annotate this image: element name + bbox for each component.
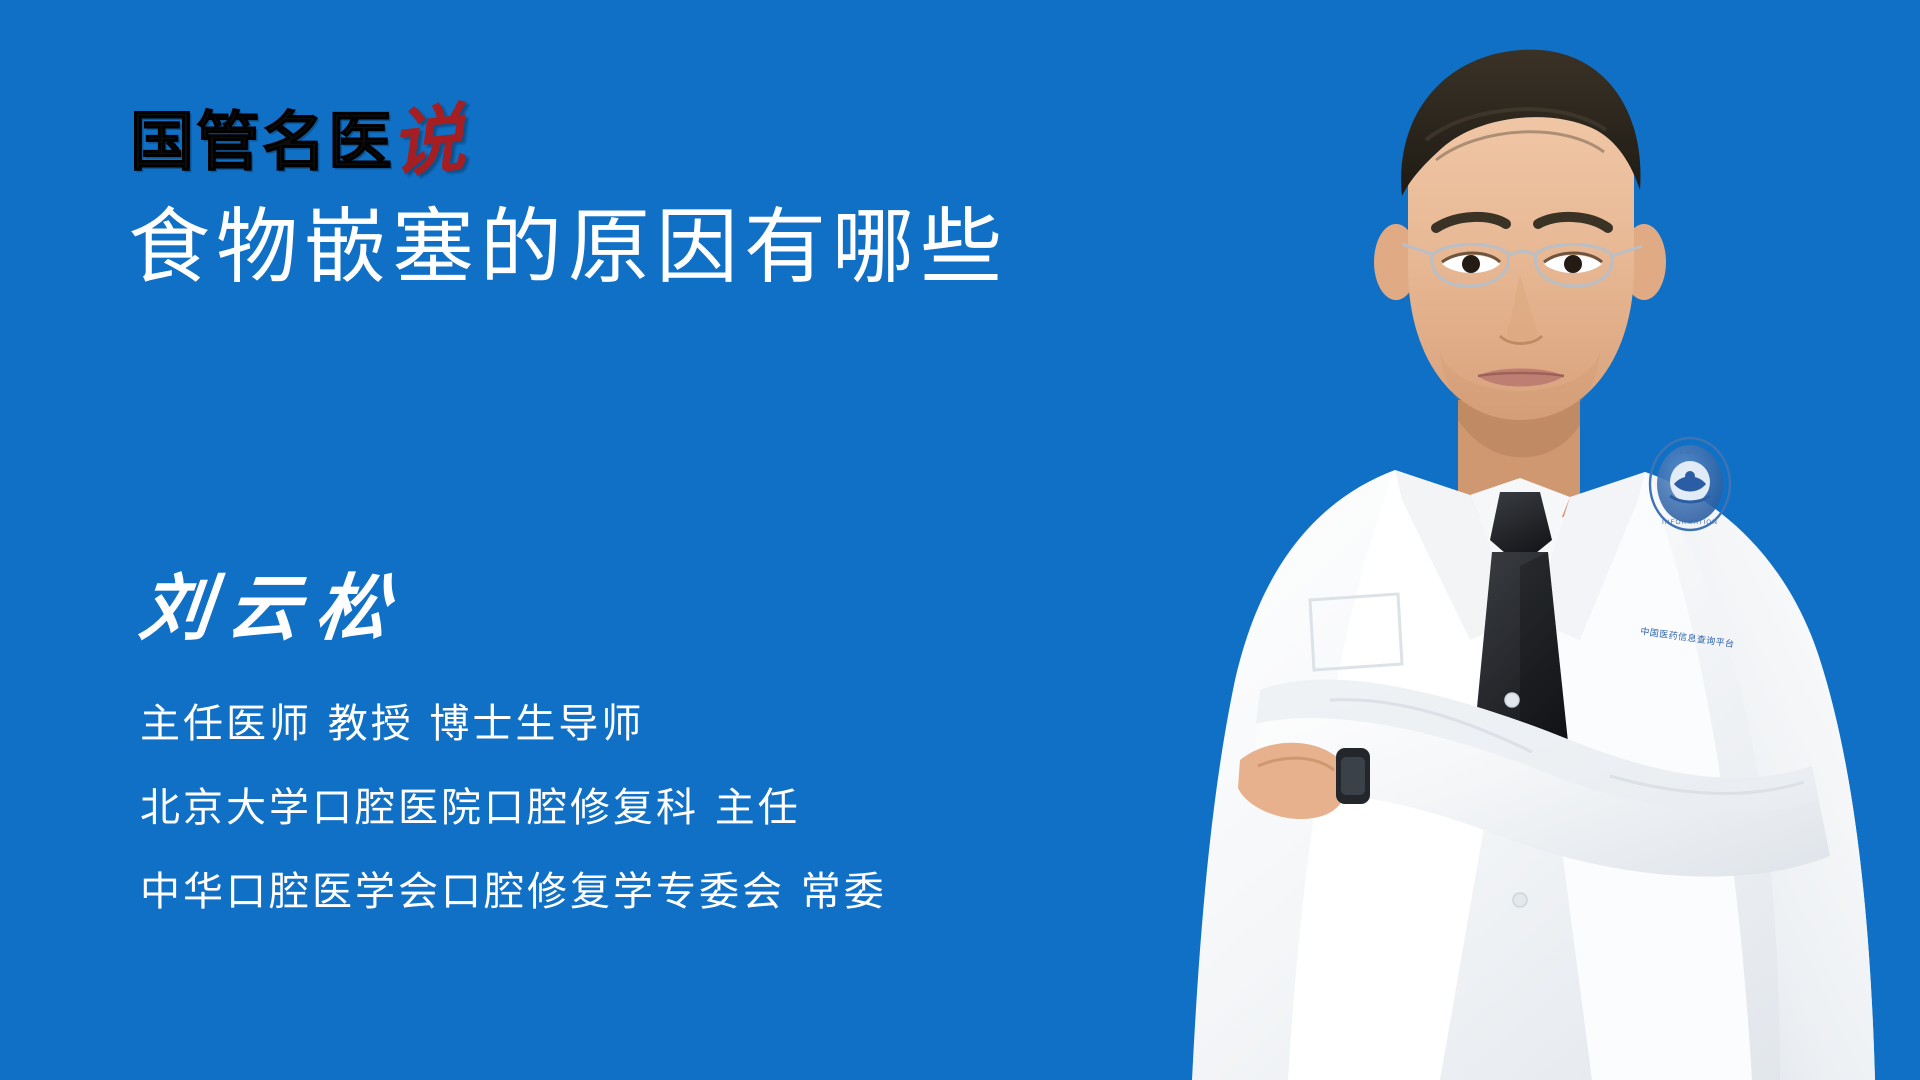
coat-button [1505,693,1519,707]
svg-text:INFORMATION: INFORMATION [1662,519,1718,526]
doctor-credentials: 主任医师 教授 博士生导师 北京大学口腔医院口腔修复科 主任 中华口腔医学会口腔… [140,702,887,914]
svg-text:CMIP: CMIP [1680,449,1700,456]
credential-line-1: 主任医师 教授 博士生导师 [140,702,887,746]
credential-line-2: 北京大学口腔医院口腔修复科 主任 [140,786,887,830]
page-title: 食物嵌塞的原因有哪些 [128,203,1008,293]
credential-line-3: 中华口腔医学会口腔修复学专委会 常委 [140,870,887,914]
coat-badge: CMIP INFORMATION [1650,438,1730,530]
program-logo-main-text: 国管名医 [130,111,394,175]
program-logo-accent-text: 说 [387,101,468,182]
coat-button [1513,893,1527,907]
program-logo: 国管名医 说 [130,95,464,175]
doctor-name: 刘云松 [136,572,408,644]
video-cover-slide: 国管名医 说 食物嵌塞的原因有哪些 刘云松 主任医师 教授 博士生导师 北京大学… [0,0,1920,1080]
doctor-portrait-photo: CMIP INFORMATION 中国医药信息查询平台 [1140,0,1920,1080]
